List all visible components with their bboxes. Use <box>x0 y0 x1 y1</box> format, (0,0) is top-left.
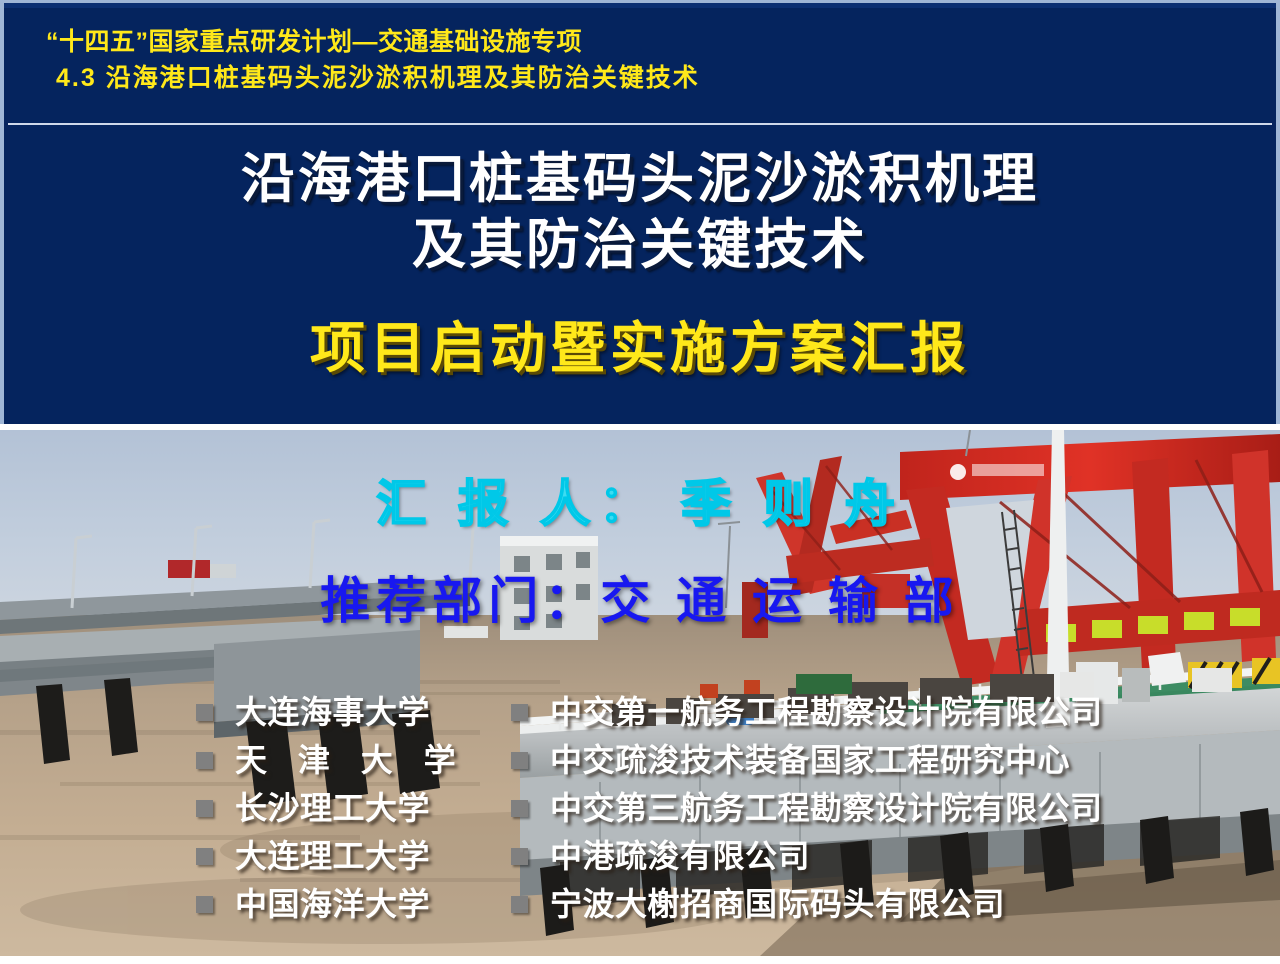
bullet-square-icon <box>196 704 213 721</box>
organization-name: 天 津 大 学 <box>235 740 467 780</box>
program-header: “十四五”国家重点研发计划—交通基础设施专项 4.3 沿海港口桩基码头泥沙淤积机… <box>4 25 1276 97</box>
title-panel: “十四五”国家重点研发计划—交通基础设施专项 4.3 沿海港口桩基码头泥沙淤积机… <box>0 0 1280 424</box>
bullet-square-icon <box>196 800 213 817</box>
list-item: 中港疏浚有限公司 <box>511 832 1206 880</box>
organization-lists: 大连海事大学 天 津 大 学 长沙理工大学 大连理工大学 中国海洋大学 <box>196 688 1206 928</box>
list-item: 中交疏浚技术装备国家工程研究中心 <box>511 736 1206 784</box>
organization-list-right: 中交第一航务工程勘察设计院有限公司 中交疏浚技术装备国家工程研究中心 中交第三航… <box>511 688 1206 928</box>
organization-name: 中交第一航务工程勘察设计院有限公司 <box>550 692 1103 732</box>
list-item: 中国海洋大学 <box>196 880 511 928</box>
bullet-square-icon <box>511 896 528 913</box>
bullet-square-icon <box>511 704 528 721</box>
list-item: 中交第一航务工程勘察设计院有限公司 <box>511 688 1206 736</box>
bottom-strip <box>0 956 1280 964</box>
list-item: 长沙理工大学 <box>196 784 511 832</box>
organization-name: 大连理工大学 <box>235 836 430 876</box>
organization-name: 长沙理工大学 <box>235 788 430 828</box>
header-divider <box>8 123 1272 125</box>
list-item: 大连理工大学 <box>196 832 511 880</box>
page-title: 沿海港口桩基码头泥沙淤积机理 及其防治关键技术 <box>4 146 1276 278</box>
list-item: 宁波大榭招商国际码头有限公司 <box>511 880 1206 928</box>
program-header-line2: 4.3 沿海港口桩基码头泥沙淤积机理及其防治关键技术 <box>46 59 1276 97</box>
bullet-square-icon <box>511 800 528 817</box>
organization-name: 中国海洋大学 <box>235 884 430 924</box>
organization-name: 中交第三航务工程勘察设计院有限公司 <box>550 788 1103 828</box>
bullet-square-icon <box>196 752 213 769</box>
page-title-line1: 沿海港口桩基码头泥沙淤积机理 <box>4 146 1276 212</box>
page-title-line2: 及其防治关键技术 <box>4 212 1276 278</box>
organization-list-left: 大连海事大学 天 津 大 学 长沙理工大学 大连理工大学 中国海洋大学 <box>196 688 511 928</box>
organization-name: 宁波大榭招商国际码头有限公司 <box>550 884 1005 924</box>
organization-name: 大连海事大学 <box>235 692 430 732</box>
organization-name: 中交疏浚技术装备国家工程研究中心 <box>550 740 1070 780</box>
program-header-line1: “十四五”国家重点研发计划—交通基础设施专项 <box>46 25 1276 59</box>
list-item: 中交第三航务工程勘察设计院有限公司 <box>511 784 1206 832</box>
organization-name: 中港疏浚有限公司 <box>550 836 810 876</box>
presentation-slide: “十四五”国家重点研发计划—交通基础设施专项 4.3 沿海港口桩基码头泥沙淤积机… <box>0 0 1280 964</box>
page-subtitle: 项目启动暨实施方案汇报 <box>4 313 1276 383</box>
bullet-square-icon <box>511 752 528 769</box>
bullet-square-icon <box>511 848 528 865</box>
bullet-square-icon <box>196 848 213 865</box>
list-item: 大连海事大学 <box>196 688 511 736</box>
recommending-department-label: 推荐部门：交 通 运 输 部 <box>0 570 1280 632</box>
list-item: 天 津 大 学 <box>196 736 511 784</box>
bullet-square-icon <box>196 896 213 913</box>
presenter-label: 汇 报 人： 季 则 舟 <box>0 473 1280 535</box>
